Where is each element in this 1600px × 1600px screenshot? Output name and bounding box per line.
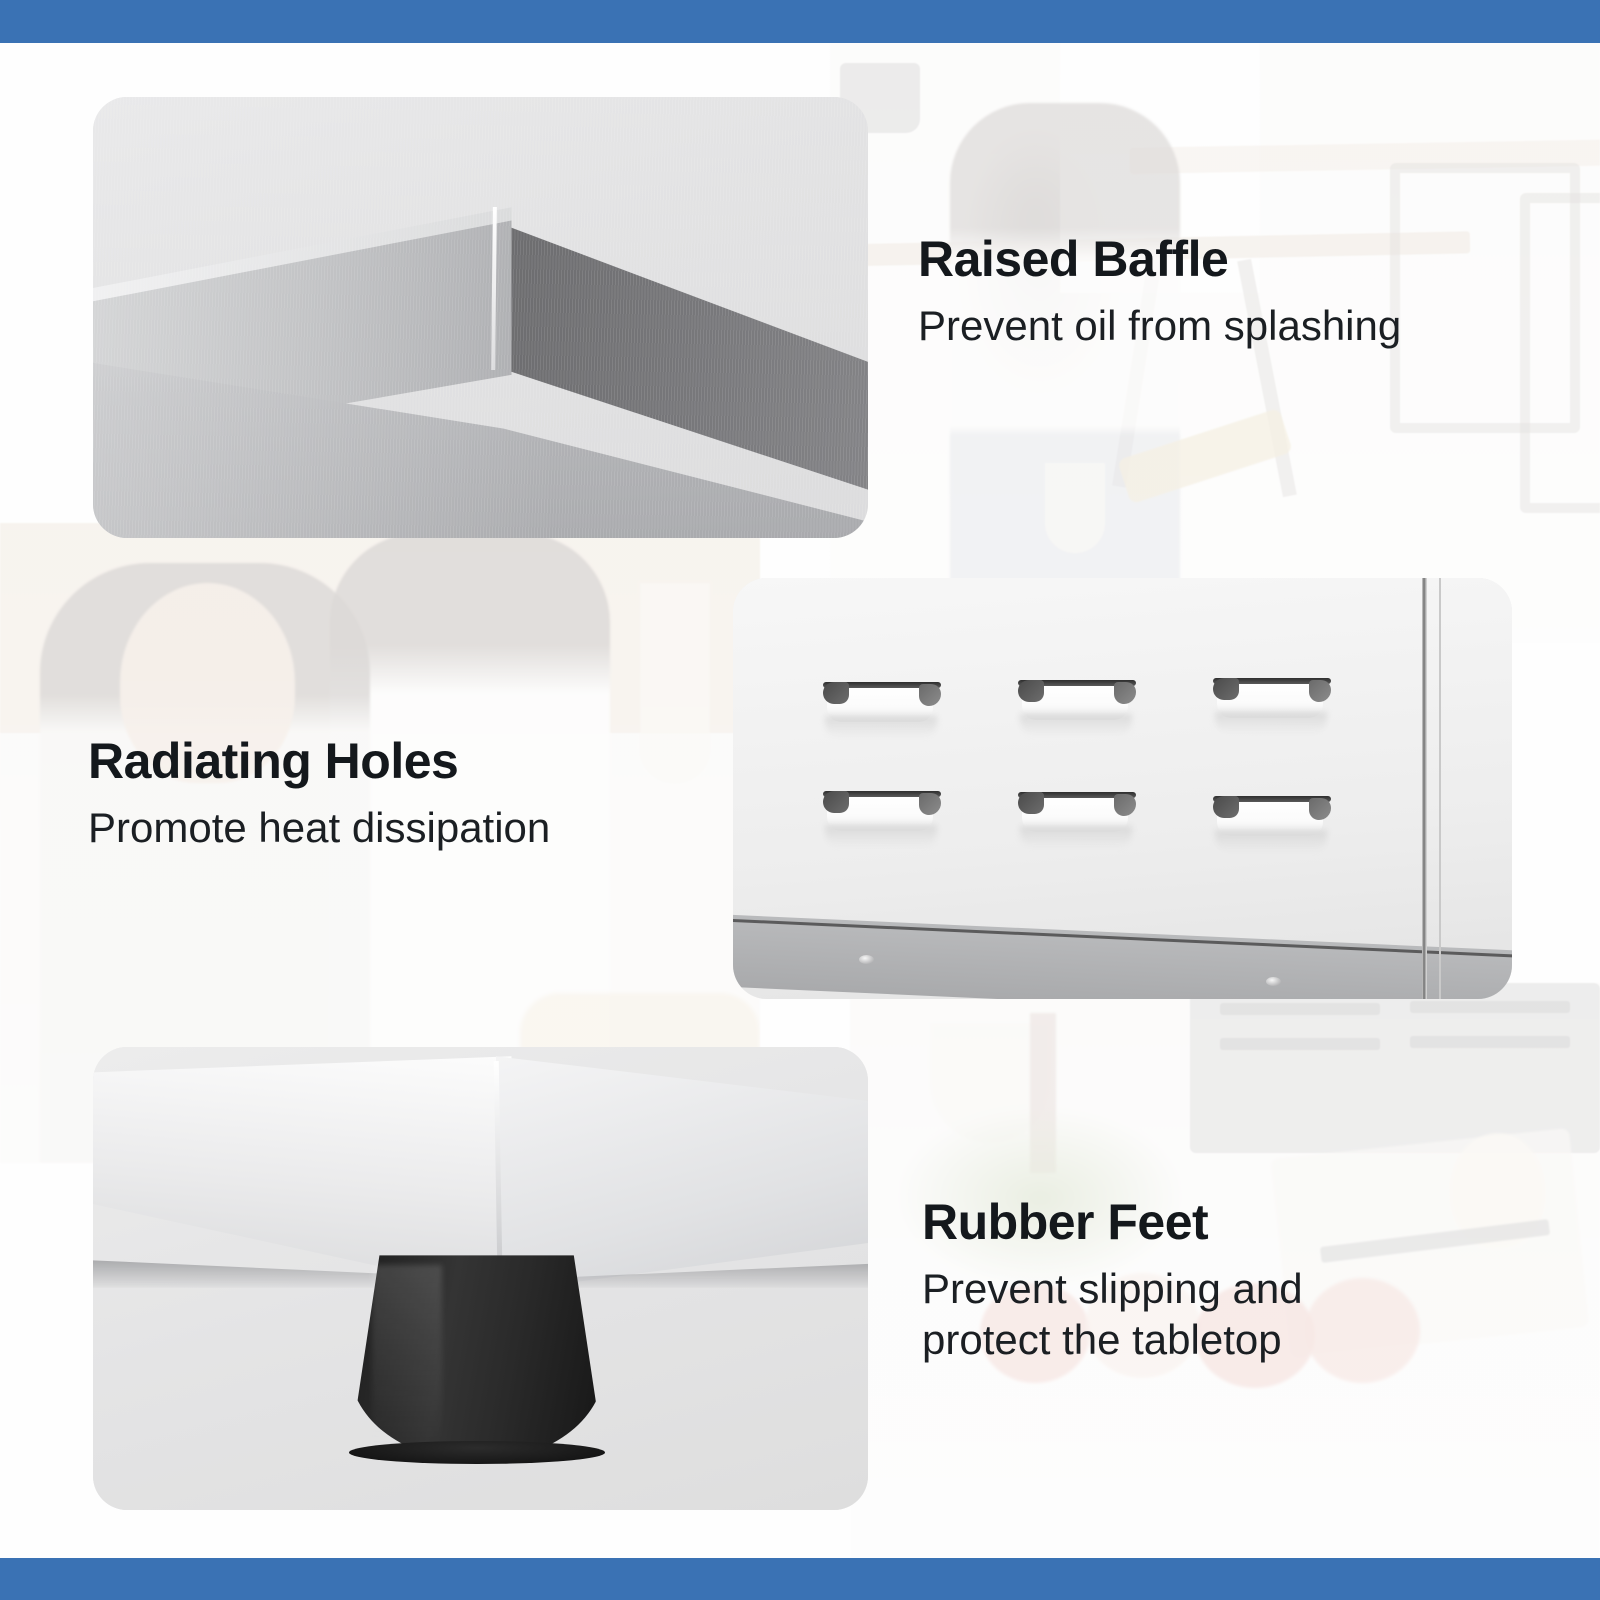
feature-text-raised-baffle: Raised Baffle Prevent oil from splashing bbox=[918, 233, 1518, 351]
panel-seam bbox=[1422, 578, 1427, 999]
vent-end-cap-right bbox=[919, 793, 941, 815]
vent-slot bbox=[1018, 792, 1136, 850]
vent-slot bbox=[1213, 678, 1331, 736]
vent-end-cap-left bbox=[1018, 792, 1044, 814]
vent-shadow bbox=[825, 716, 937, 738]
feature-text-radiating-holes: Radiating Holes Promote heat dissipation bbox=[88, 735, 688, 853]
vent-shadow bbox=[1020, 826, 1132, 848]
vent-slot bbox=[1018, 680, 1136, 738]
feature-title: Rubber Feet bbox=[922, 1196, 1482, 1249]
rivet bbox=[1266, 977, 1281, 986]
feature-title: Raised Baffle bbox=[918, 233, 1518, 286]
vent-end-cap-right bbox=[1309, 680, 1331, 702]
vent-end-cap-left bbox=[1213, 678, 1239, 700]
vent-shadow bbox=[825, 825, 937, 847]
feature-description-line: Prevent oil from splashing bbox=[918, 300, 1518, 351]
feature-description-line: Prevent slipping and bbox=[922, 1263, 1482, 1314]
feature-description: Promote heat dissipation bbox=[88, 802, 688, 853]
vent-end-cap-left bbox=[823, 791, 849, 813]
brushed-metal-texture bbox=[93, 97, 868, 538]
feature-description-line: protect the tabletop bbox=[922, 1314, 1482, 1365]
vent-slot bbox=[823, 791, 941, 849]
rivet bbox=[859, 955, 874, 964]
feature-text-rubber-feet: Rubber Feet Prevent slipping and protect… bbox=[922, 1196, 1482, 1365]
vent-end-cap-left bbox=[1018, 680, 1044, 702]
rubber-foot-highlight bbox=[372, 1265, 442, 1450]
infographic-canvas: Raised Baffle Prevent oil from splashing… bbox=[0, 0, 1600, 1600]
bottom-brand-bar bbox=[0, 1558, 1600, 1600]
vent-shadow bbox=[1215, 712, 1327, 734]
vent-slot bbox=[1213, 796, 1331, 854]
vent-end-cap-left bbox=[1213, 796, 1239, 818]
feature-description: Prevent oil from splashing bbox=[918, 300, 1518, 351]
vent-shadow bbox=[1020, 714, 1132, 736]
vent-end-cap-right bbox=[1114, 794, 1136, 816]
top-brand-bar bbox=[0, 0, 1600, 43]
feature-title: Radiating Holes bbox=[88, 735, 688, 788]
panel-seam-secondary bbox=[1439, 578, 1441, 999]
vent-end-cap-right bbox=[1114, 682, 1136, 704]
feature-description: Prevent slipping and protect the tableto… bbox=[922, 1263, 1482, 1365]
vent-shadow bbox=[1215, 830, 1327, 852]
rubber-foot-base bbox=[349, 1441, 605, 1464]
feature-description-line: Promote heat dissipation bbox=[88, 802, 688, 853]
vent-end-cap-left bbox=[823, 682, 849, 704]
product-image-radiating-holes bbox=[733, 578, 1512, 999]
product-image-rubber-feet bbox=[93, 1047, 868, 1510]
product-image-raised-baffle bbox=[93, 97, 868, 538]
vent-end-cap-right bbox=[919, 684, 941, 706]
vent-slot bbox=[823, 682, 941, 740]
vent-end-cap-right bbox=[1309, 798, 1331, 820]
